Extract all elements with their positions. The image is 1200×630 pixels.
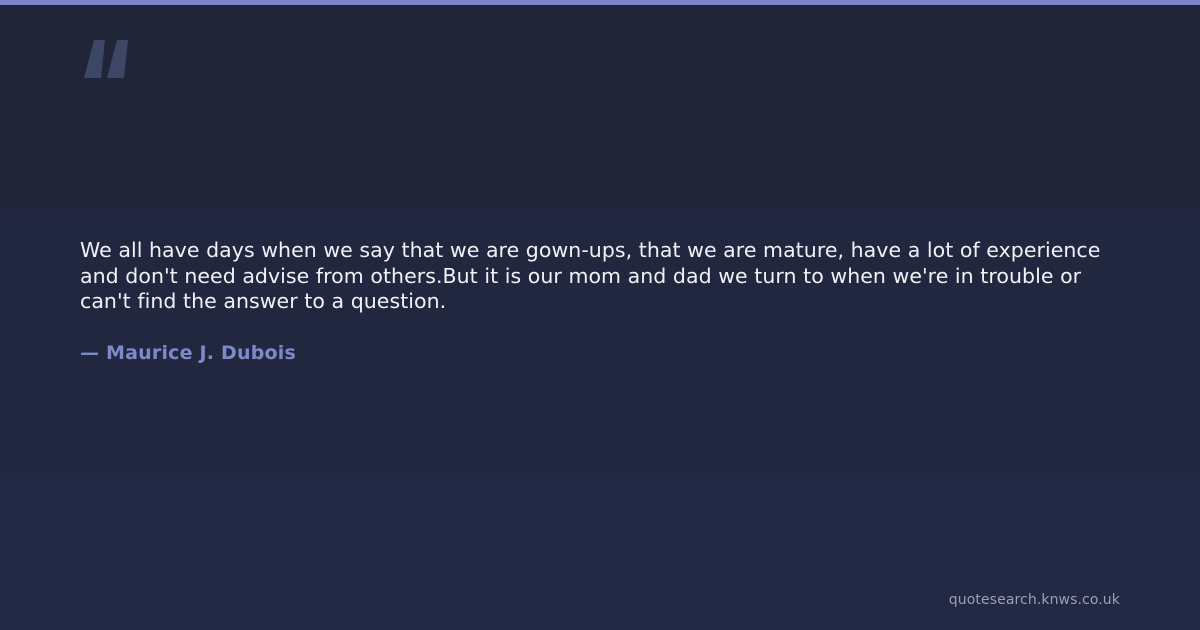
site-url-label: quotesearch.knws.co.uk: [720, 590, 1120, 610]
quote-block: We all have days when we say that we are…: [80, 238, 1110, 315]
top-accent-bar: [0, 0, 1200, 5]
quote-text: We all have days when we say that we are…: [80, 238, 1110, 315]
double-quotation-mark-icon: [80, 28, 140, 88]
quote-card: We all have days when we say that we are…: [0, 0, 1200, 630]
quote-author: — Maurice J. Dubois: [80, 341, 296, 365]
